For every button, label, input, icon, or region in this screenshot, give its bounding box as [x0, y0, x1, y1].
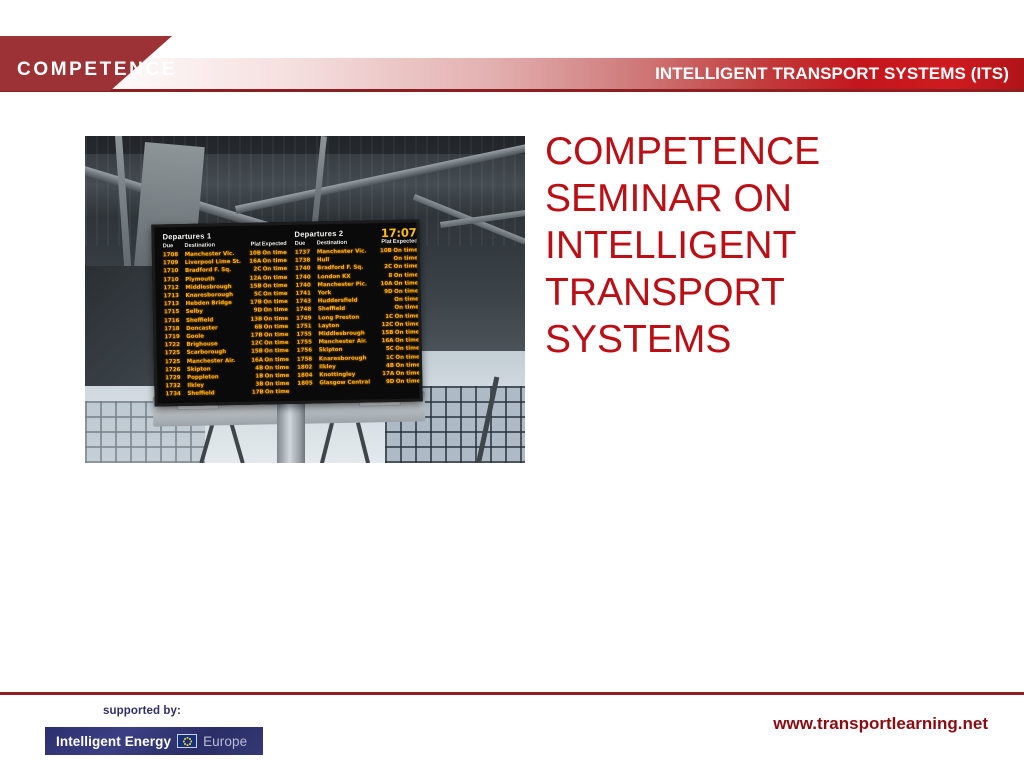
eu-flag-icon	[177, 734, 197, 748]
col-header-plat: Plat	[246, 241, 261, 247]
departures-1-title: Departures 1	[162, 230, 286, 241]
sponsor-name: Intelligent Energy	[56, 734, 171, 749]
departure-plat: 5C	[247, 290, 262, 298]
departures-2-column: Departures 2 17:07 Due Destination Plat …	[291, 226, 420, 396]
col-header-destination: Destination	[317, 239, 377, 246]
departure-plat: 4B	[379, 362, 394, 370]
col-header-destination: Destination	[184, 242, 246, 249]
departure-due: 1805	[297, 380, 319, 389]
departure-plat: 1C	[378, 313, 393, 321]
departure-plat: 16A	[378, 337, 393, 345]
departure-plat: 3B	[249, 381, 264, 389]
page-title: COMPETENCE SEMINAR ON INTELLIGENT TRANSP…	[545, 128, 965, 363]
departure-plat: 9D	[247, 307, 262, 315]
departure-plat	[378, 304, 393, 312]
departure-plat: 17B	[248, 332, 263, 340]
departure-board-clock: 17:07	[381, 228, 417, 240]
header-rule	[0, 89, 1024, 92]
website-url[interactable]: www.transportlearning.net	[773, 714, 988, 734]
col-header-due: Due	[295, 240, 317, 246]
departure-plat: 10B	[246, 249, 261, 257]
departure-plat: 12C	[378, 321, 393, 329]
departure-plat: 1B	[248, 373, 263, 381]
departure-plat: 8	[377, 272, 392, 280]
departure-plat: 2C	[246, 266, 261, 274]
departure-plat: 13B	[247, 315, 262, 323]
departure-plat: 10B	[377, 247, 392, 255]
departure-row: 1734Sheffield17BOn time	[165, 388, 289, 399]
header-banner-title: INTELLIGENT TRANSPORT SYSTEMS (ITS)	[655, 64, 1009, 84]
departure-destination: Glasgow Central	[319, 378, 379, 387]
departure-plat	[377, 255, 392, 263]
departures-1-column: Departures 1 Due Destination Plat Expect…	[159, 229, 289, 399]
sponsor-region: Europe	[203, 734, 247, 749]
departure-plat: 9D	[379, 378, 394, 386]
departure-plat: 5C	[379, 345, 394, 353]
departure-plat: 17A	[379, 370, 394, 378]
intelligent-energy-europe-logo: Intelligent Energy Europe	[45, 727, 263, 755]
competence-logo-text: COMPETENCE	[17, 59, 177, 81]
footer-rule	[0, 692, 1024, 695]
departure-plat: 12A	[247, 274, 262, 282]
departure-row: 1805Glasgow Central9DOn time	[297, 378, 420, 389]
railway-station-departure-boards-photo: Departures 1 Due Destination Plat Expect…	[85, 136, 525, 463]
departure-plat: 15B	[248, 348, 263, 356]
departure-board-support-pole	[277, 398, 305, 463]
departure-plat: 12C	[248, 340, 263, 348]
supported-by-label: supported by:	[103, 705, 181, 717]
departure-plat	[378, 296, 393, 304]
slide-header: COMPETENCE INTELLIGENT TRANSPORT SYSTEMS…	[0, 0, 1024, 100]
departure-plat: 16A	[248, 356, 263, 364]
departure-destination: Sheffield	[187, 389, 249, 398]
departure-plat: 17B	[249, 389, 264, 397]
departure-plat: 10A	[377, 280, 392, 288]
departure-board: Departures 1 Due Destination Plat Expect…	[151, 219, 422, 406]
departure-plat: 15B	[247, 282, 262, 290]
departure-plat: 1C	[379, 354, 394, 362]
departure-expected: On time	[394, 378, 420, 387]
col-header-expected: Expected	[261, 241, 287, 247]
departure-due: 1734	[165, 390, 187, 399]
col-header-due: Due	[163, 243, 185, 249]
departure-plat: 2C	[377, 263, 392, 271]
departure-expected: On time	[264, 388, 290, 397]
departure-plat: 17B	[247, 299, 262, 307]
departures-1-header-row: Due Destination Plat Expected	[163, 241, 287, 249]
departure-plat: 9D	[378, 288, 393, 296]
departure-plat: 16A	[246, 258, 261, 266]
departure-plat: 15B	[378, 329, 393, 337]
departure-plat: 4B	[248, 364, 263, 372]
departure-plat: 6B	[248, 323, 263, 331]
